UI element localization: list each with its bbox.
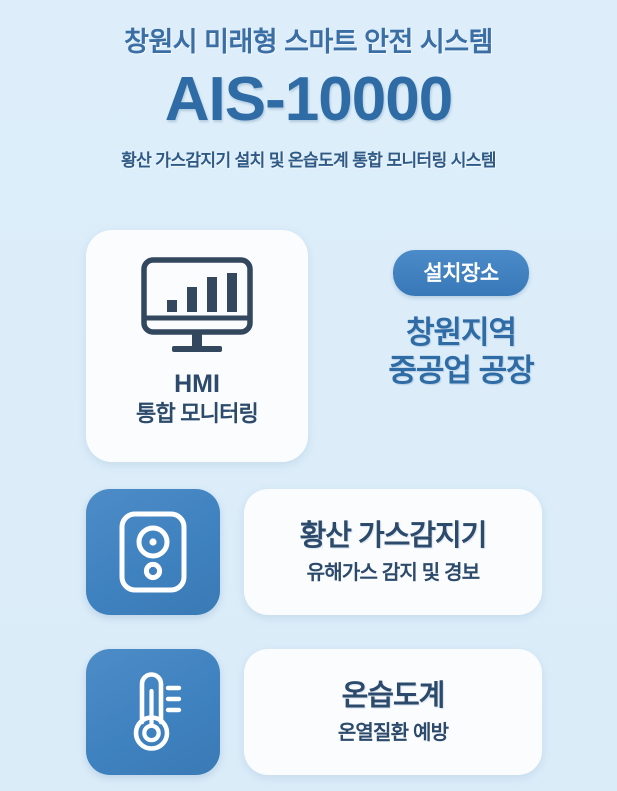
location-line-2: 중공업 공장 (346, 352, 576, 390)
headline: 창원시 미래형 스마트 안전 시스템 (0, 26, 617, 60)
subheadline: 황산 가스감지기 설치 및 온습도계 통합 모니터링 시스템 (0, 150, 617, 172)
hmi-subtitle: 통합 모니터링 (136, 401, 258, 427)
gas-detector-tile[interactable] (86, 489, 220, 615)
location-line-1: 창원지역 (346, 314, 576, 352)
hmi-card[interactable]: HMI 통합 모니터링 (86, 230, 308, 462)
product-name: AIS-10000 (0, 66, 617, 134)
hmi-title: HMI (174, 370, 220, 399)
monitor-bar-chart-icon (139, 256, 255, 360)
thermometer-card[interactable]: 온습도계 온열질환 예방 (244, 649, 542, 775)
feature-row-gas-detector: 황산 가스감지기 유해가스 감지 및 경보 (86, 489, 542, 615)
hero-row: HMI 통합 모니터링 설치장소 창원지역 중공업 공장 (0, 230, 617, 466)
gas-detector-card[interactable]: 황산 가스감지기 유해가스 감지 및 경보 (244, 489, 542, 615)
poster-header: 창원시 미래형 스마트 안전 시스템 AIS-10000 황산 가스감지기 설치… (0, 0, 617, 172)
gas-detector-description: 유해가스 감지 및 경보 (307, 561, 480, 585)
poster-root: 창원시 미래형 스마트 안전 시스템 AIS-10000 황산 가스감지기 설치… (0, 0, 617, 791)
installation-location-badge[interactable]: 설치장소 (393, 250, 528, 296)
thermometer-title: 온습도계 (342, 679, 445, 714)
gas-detector-icon (117, 509, 189, 595)
installation-location-text: 창원지역 중공업 공장 (346, 314, 576, 390)
gas-detector-title: 황산 가스감지기 (300, 519, 487, 554)
thermometer-description: 온열질환 예방 (338, 721, 448, 745)
thermometer-tile[interactable] (86, 649, 220, 775)
feature-row-thermometer: 온습도계 온열질환 예방 (86, 649, 542, 775)
installation-location-block: 설치장소 창원지역 중공업 공장 (346, 250, 576, 390)
thermometer-icon (115, 667, 191, 757)
